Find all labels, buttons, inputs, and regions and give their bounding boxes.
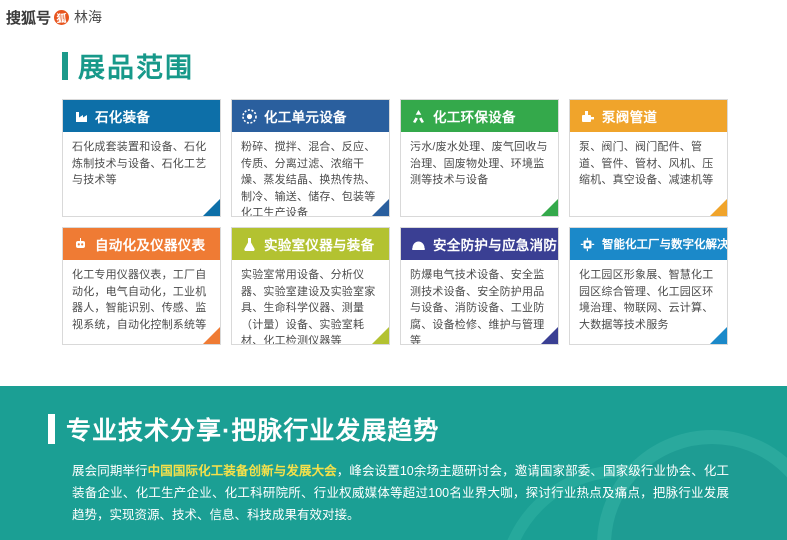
panel-accent-bar xyxy=(48,414,55,444)
sohu-brand-label: 搜狐号 xyxy=(6,7,51,28)
exhibit-card[interactable]: 化工环保设备 污水/废水处理、废气回收与治理、固废物处理、环境监测等技术与设备 xyxy=(400,99,559,217)
panel-paragraph: 展会同期举行中国国际化工装备创新与发展大会，峰会设置10余场主题研讨会，邀请国家… xyxy=(72,460,729,526)
chip-icon xyxy=(579,236,596,253)
corner-decoration xyxy=(541,327,558,344)
section-heading: 展品范围 xyxy=(62,46,787,85)
corner-decoration xyxy=(710,327,727,344)
sohu-fox-icon: 狐 xyxy=(54,10,69,25)
panel-heading: 专业技术分享·把脉行业发展趋势 xyxy=(48,411,787,447)
corner-decoration xyxy=(541,199,558,216)
card-header: 安全防护与应急消防 xyxy=(401,228,558,260)
card-body: 粉碎、搅拌、混合、反应、传质、分离过滤、浓缩干燥、蒸发结晶、换热传热、制冷、输送… xyxy=(232,132,389,217)
card-body: 污水/废水处理、废气回收与治理、固废物处理、环境监测等技术与设备 xyxy=(401,132,558,189)
section-accent-bar xyxy=(62,52,68,80)
card-title: 化工环保设备 xyxy=(433,106,516,126)
card-header: 智能化工厂与数字化解决方案 xyxy=(570,228,727,260)
watermark-account-label: 林海 xyxy=(74,7,102,27)
watermark-bar: 搜狐号 狐 林海 xyxy=(0,0,787,34)
card-title: 泵阀管道 xyxy=(602,106,657,126)
robot-icon xyxy=(72,236,89,253)
factory-icon xyxy=(72,108,89,125)
card-header: 泵阀管道 xyxy=(570,100,727,132)
corner-decoration xyxy=(203,199,220,216)
card-title: 智能化工厂与数字化解决方案 xyxy=(602,236,728,252)
exhibit-card[interactable]: 自动化及仪器仪表 化工专用仪器仪表，工厂自动化，电气自动化，工业机器人，智能识别… xyxy=(62,227,221,345)
card-title: 石化装备 xyxy=(95,106,150,126)
card-header: 化工环保设备 xyxy=(401,100,558,132)
tech-sharing-panel: 专业技术分享·把脉行业发展趋势 展会同期举行中国国际化工装备创新与发展大会，峰会… xyxy=(0,386,787,540)
sohu-logo: 搜狐号 狐 xyxy=(6,7,69,28)
card-header: 实验室仪器与装备 xyxy=(232,228,389,260)
card-body: 防爆电气技术设备、安全监测技术设备、安全防护用品与设备、消防设备、工业防腐、设备… xyxy=(401,260,558,345)
card-body: 石化成套装置和设备、石化炼制技术与设备、石化工艺与技术等 xyxy=(63,132,220,189)
card-title: 化工单元设备 xyxy=(264,106,347,126)
card-header: 石化装备 xyxy=(63,100,220,132)
flask-icon xyxy=(241,236,258,253)
corner-decoration xyxy=(710,199,727,216)
card-title: 自动化及仪器仪表 xyxy=(95,234,205,254)
recycle-icon xyxy=(410,108,427,125)
page-title: 展品范围 xyxy=(78,46,194,85)
helmet-icon xyxy=(410,236,427,253)
card-body: 泵、阀门、阀门配件、管道、管件、管材、风机、压缩机、真空设备、减速机等 xyxy=(570,132,727,189)
card-title: 安全防护与应急消防 xyxy=(433,234,557,254)
exhibit-card[interactable]: 智能化工厂与数字化解决方案 化工园区形象展、智慧化工园区综合管理、化工园区环境治… xyxy=(569,227,728,345)
panel-text-part1: 展会同期举行 xyxy=(72,464,148,478)
exhibit-card[interactable]: 泵阀管道 泵、阀门、阀门配件、管道、管件、管材、风机、压缩机、真空设备、减速机等 xyxy=(569,99,728,217)
corner-decoration xyxy=(372,199,389,216)
exhibit-card[interactable]: 化工单元设备 粉碎、搅拌、混合、反应、传质、分离过滤、浓缩干燥、蒸发结晶、换热传… xyxy=(231,99,390,217)
panel-text-highlight: 中国国际化工装备创新与发展大会 xyxy=(148,464,337,478)
exhibit-card[interactable]: 实验室仪器与装备 实验室常用设备、分析仪器、实验室建设及实验室家具、生命科学仪器… xyxy=(231,227,390,345)
card-header: 自动化及仪器仪表 xyxy=(63,228,220,260)
card-header: 化工单元设备 xyxy=(232,100,389,132)
exhibit-scope-grid: 石化装备 石化成套装置和设备、石化炼制技术与设备、石化工艺与技术等 化工单元设备… xyxy=(62,99,728,345)
exhibit-card[interactable]: 安全防护与应急消防 防爆电气技术设备、安全监测技术设备、安全防护用品与设备、消防… xyxy=(400,227,559,345)
panel-title: 专业技术分享·把脉行业发展趋势 xyxy=(66,411,439,447)
card-body: 化工专用仪器仪表，工厂自动化，电气自动化，工业机器人，智能识别、传感、监视系统，… xyxy=(63,260,220,333)
card-title: 实验室仪器与装备 xyxy=(264,234,374,254)
gear-icon xyxy=(241,108,258,125)
card-body: 化工园区形象展、智慧化工园区综合管理、化工园区环境治理、物联网、云计算、大数据等… xyxy=(570,260,727,333)
corner-decoration xyxy=(372,327,389,344)
corner-decoration xyxy=(203,327,220,344)
card-body: 实验室常用设备、分析仪器、实验室建设及实验室家具、生命科学仪器、测量（计量）设备… xyxy=(232,260,389,345)
exhibit-card[interactable]: 石化装备 石化成套装置和设备、石化炼制技术与设备、石化工艺与技术等 xyxy=(62,99,221,217)
pump-icon xyxy=(579,108,596,125)
